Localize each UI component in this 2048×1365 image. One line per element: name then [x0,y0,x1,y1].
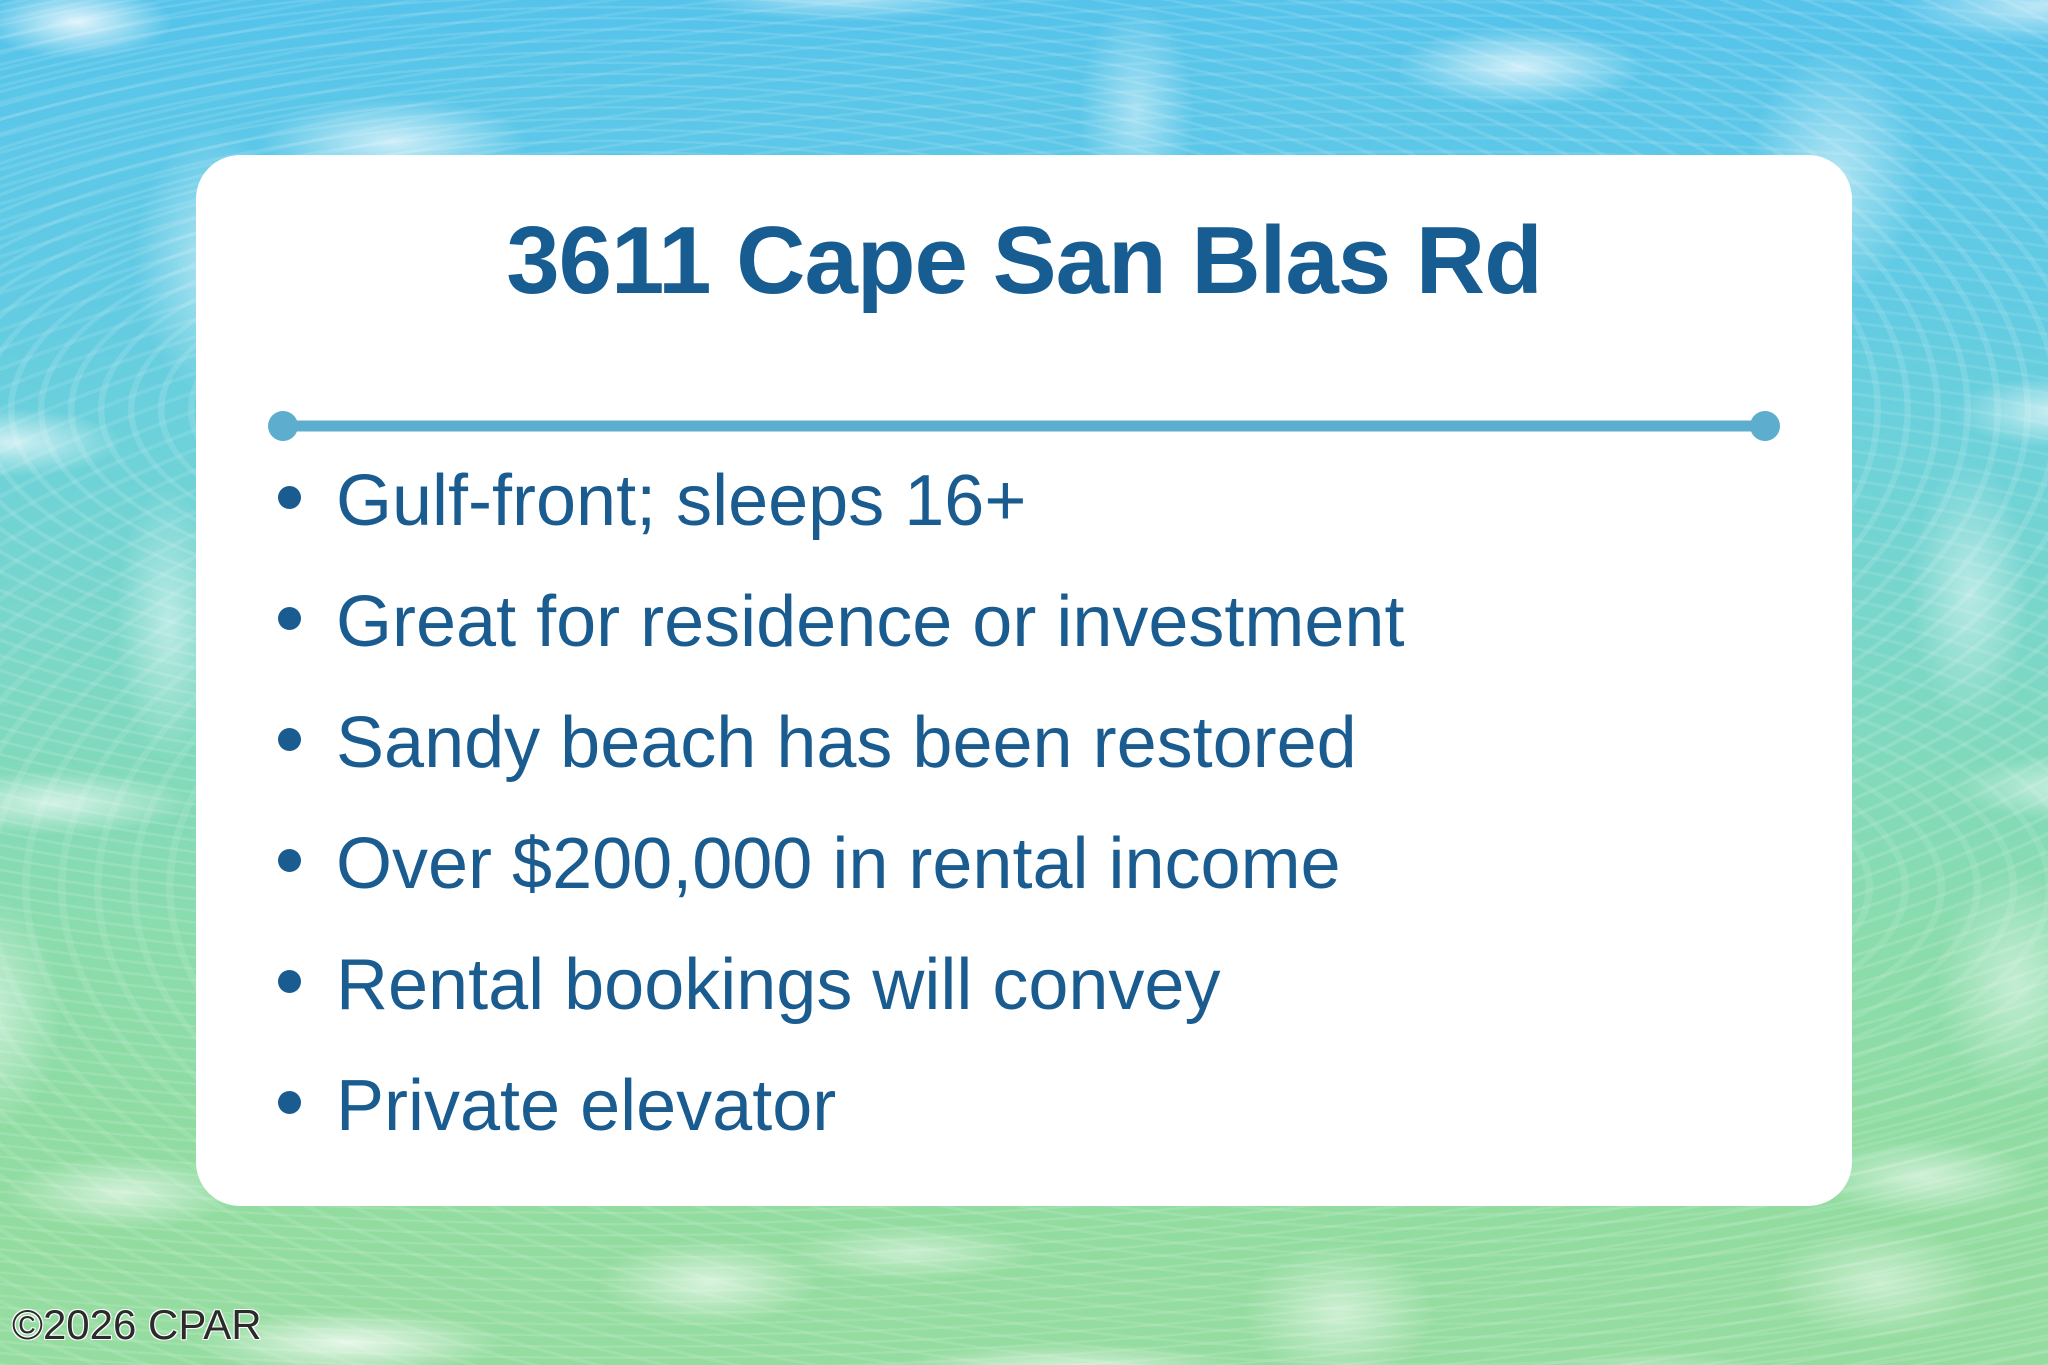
list-item-label: Great for residence or investment [336,586,1812,658]
copyright-watermark: ©2026 CPAR [12,1301,262,1349]
bullet-dot-icon [266,607,336,630]
list-item: Over $200,000 in rental income [266,828,1812,949]
divider-line [282,421,1766,432]
list-item-label: Private elevator [336,1070,1812,1142]
list-item: Sandy beach has been restored [266,707,1812,828]
page-title: 3611 Cape San Blas Rd [196,211,1852,312]
list-item: Gulf-front; sleeps 16+ [266,465,1812,586]
list-item-label: Gulf-front; sleeps 16+ [336,465,1812,537]
bullet-dot-icon [266,486,336,509]
list-item: Rental bookings will convey [266,949,1812,1070]
feature-list: Gulf-front; sleeps 16+ Great for residen… [266,465,1812,1191]
list-item: Great for residence or investment [266,586,1812,707]
list-item-label: Over $200,000 in rental income [336,828,1812,900]
bullet-dot-icon [266,970,336,993]
bullet-dot-icon [266,1091,336,1114]
list-item: Private elevator [266,1070,1812,1191]
highlight-card: 3611 Cape San Blas Rd Gulf-front; sleeps… [196,155,1852,1206]
slide-canvas: 3611 Cape San Blas Rd Gulf-front; sleeps… [0,0,2048,1365]
divider-dot-right-icon [1750,411,1780,441]
bullet-dot-icon [266,849,336,872]
list-item-label: Rental bookings will convey [336,949,1812,1021]
title-divider [268,411,1780,441]
list-item-label: Sandy beach has been restored [336,707,1812,779]
bullet-dot-icon [266,728,336,751]
